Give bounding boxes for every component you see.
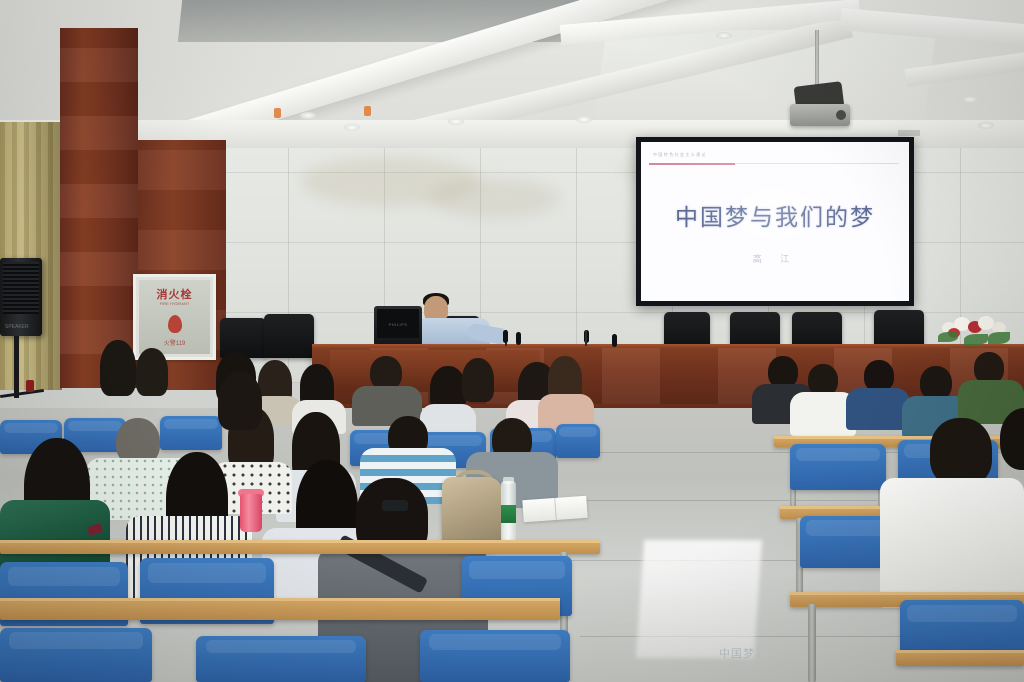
bottle-label bbox=[501, 505, 516, 523]
lecture-hall-photo: 消火栓 FIRE HYDRANT 火警119 SPEAKER 中国特色社会主义理… bbox=[0, 0, 1024, 682]
eyeglasses-icon bbox=[382, 500, 408, 511]
hair bbox=[218, 372, 262, 430]
hair bbox=[136, 348, 168, 396]
foliage bbox=[938, 332, 958, 342]
auditorium-seat bbox=[556, 424, 600, 458]
auditorium-seat bbox=[196, 636, 366, 682]
projection-screen: 中国特色社会主义理论 中国梦与我们的梦 高 江 bbox=[641, 142, 909, 301]
desk-leg bbox=[808, 604, 816, 682]
head bbox=[930, 418, 992, 486]
slide-accent-rule bbox=[649, 163, 735, 165]
downlight-icon bbox=[962, 96, 978, 103]
flower-arrangement bbox=[938, 312, 1012, 346]
pink-tumbler bbox=[240, 494, 262, 532]
microphone-icon bbox=[612, 334, 617, 347]
student-desk bbox=[0, 540, 600, 554]
head bbox=[370, 356, 402, 390]
fire-cabinet-title: 消火栓 bbox=[136, 286, 213, 302]
slide-subtitle: 高 江 bbox=[641, 252, 909, 265]
stage-chair bbox=[220, 318, 266, 358]
cable-clip bbox=[26, 380, 34, 392]
auditorium-seat bbox=[420, 630, 570, 682]
window-curtain bbox=[0, 122, 62, 390]
projector-mount-pole bbox=[815, 30, 819, 88]
auditorium-seat bbox=[790, 444, 886, 490]
hair bbox=[100, 340, 136, 396]
wood-column bbox=[60, 28, 138, 388]
fire-cabinet-subtitle: FIRE HYDRANT bbox=[136, 301, 213, 306]
microphone-stem bbox=[585, 330, 587, 346]
speaker-stand-legs bbox=[0, 389, 44, 398]
pa-speaker: SPEAKER bbox=[0, 258, 42, 336]
auditorium-seat bbox=[160, 416, 222, 450]
slide-header-text: 中国特色社会主义理论 bbox=[653, 152, 893, 158]
student-desk bbox=[896, 650, 1024, 666]
hair bbox=[462, 358, 494, 402]
student-desk bbox=[0, 598, 560, 620]
flame-icon bbox=[168, 315, 182, 333]
wall-stain bbox=[430, 178, 560, 218]
microphone-icon bbox=[503, 330, 508, 343]
screen-reflection bbox=[636, 540, 762, 658]
monitor-brand-label: PHILIPS bbox=[389, 322, 408, 327]
sprinkler-icon bbox=[274, 108, 281, 118]
screen-bracket bbox=[898, 130, 920, 136]
open-notebook bbox=[522, 496, 587, 522]
head bbox=[920, 366, 952, 400]
fire-hydrant-cabinet: 消火栓 FIRE HYDRANT 火警119 bbox=[133, 274, 216, 360]
projection-screen-frame: 中国特色社会主义理论 中国梦与我们的梦 高 江 bbox=[636, 137, 914, 306]
torso bbox=[846, 388, 910, 430]
downlight-icon bbox=[344, 124, 360, 131]
sprinkler-icon bbox=[364, 106, 371, 116]
speaker-grill-icon bbox=[3, 262, 39, 314]
downlight-icon bbox=[576, 116, 592, 123]
slide-thin-rule bbox=[735, 163, 899, 164]
downlight-icon bbox=[300, 112, 316, 119]
pa-speaker-label: SPEAKER bbox=[5, 324, 29, 330]
speaker-stand bbox=[14, 336, 19, 398]
foliage bbox=[964, 334, 988, 345]
fire-cabinet-footer: 火警119 bbox=[136, 338, 213, 347]
slide-title: 中国梦与我们的梦 bbox=[641, 198, 909, 232]
microphone-icon bbox=[516, 332, 521, 345]
foliage bbox=[988, 332, 1010, 344]
projector-lens-icon bbox=[836, 110, 846, 120]
presenter-monitor: PHILIPS bbox=[374, 306, 422, 346]
auditorium-seat bbox=[0, 628, 152, 682]
stage-chair bbox=[264, 314, 314, 358]
downlight-icon bbox=[448, 118, 464, 125]
downlight-icon bbox=[978, 122, 994, 129]
torso bbox=[880, 478, 1024, 608]
downlight-icon bbox=[716, 32, 732, 39]
floor-reflection-text: 中国梦 bbox=[692, 645, 782, 661]
